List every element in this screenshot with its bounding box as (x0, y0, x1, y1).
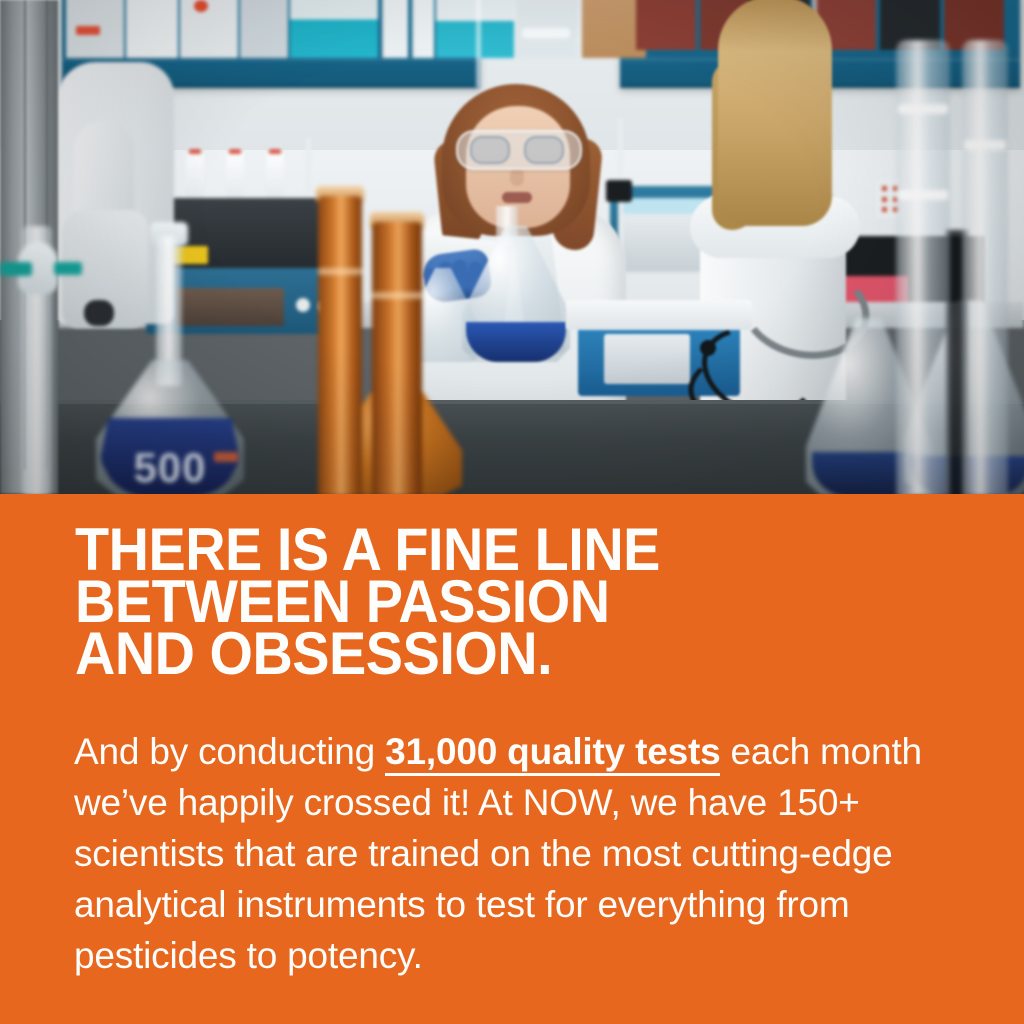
headline-line-3: AND OBSESSION. (75, 628, 912, 680)
body-text-before: And by conducting (74, 731, 385, 772)
promo-graphic: 500 THERE IS A FINE LINE BETWEEN (0, 0, 1024, 1024)
quality-tests-emphasis: 31,000 quality tests (385, 731, 720, 776)
body-paragraph: And by conducting 31,000 quality tests e… (74, 726, 954, 981)
orange-text-panel: THERE IS A FINE LINE BETWEEN PASSION AND… (0, 494, 1024, 1024)
headline: THERE IS A FINE LINE BETWEEN PASSION AND… (75, 524, 912, 680)
lab-photo: 500 (0, 0, 1024, 494)
photo-vignette (0, 0, 1024, 494)
